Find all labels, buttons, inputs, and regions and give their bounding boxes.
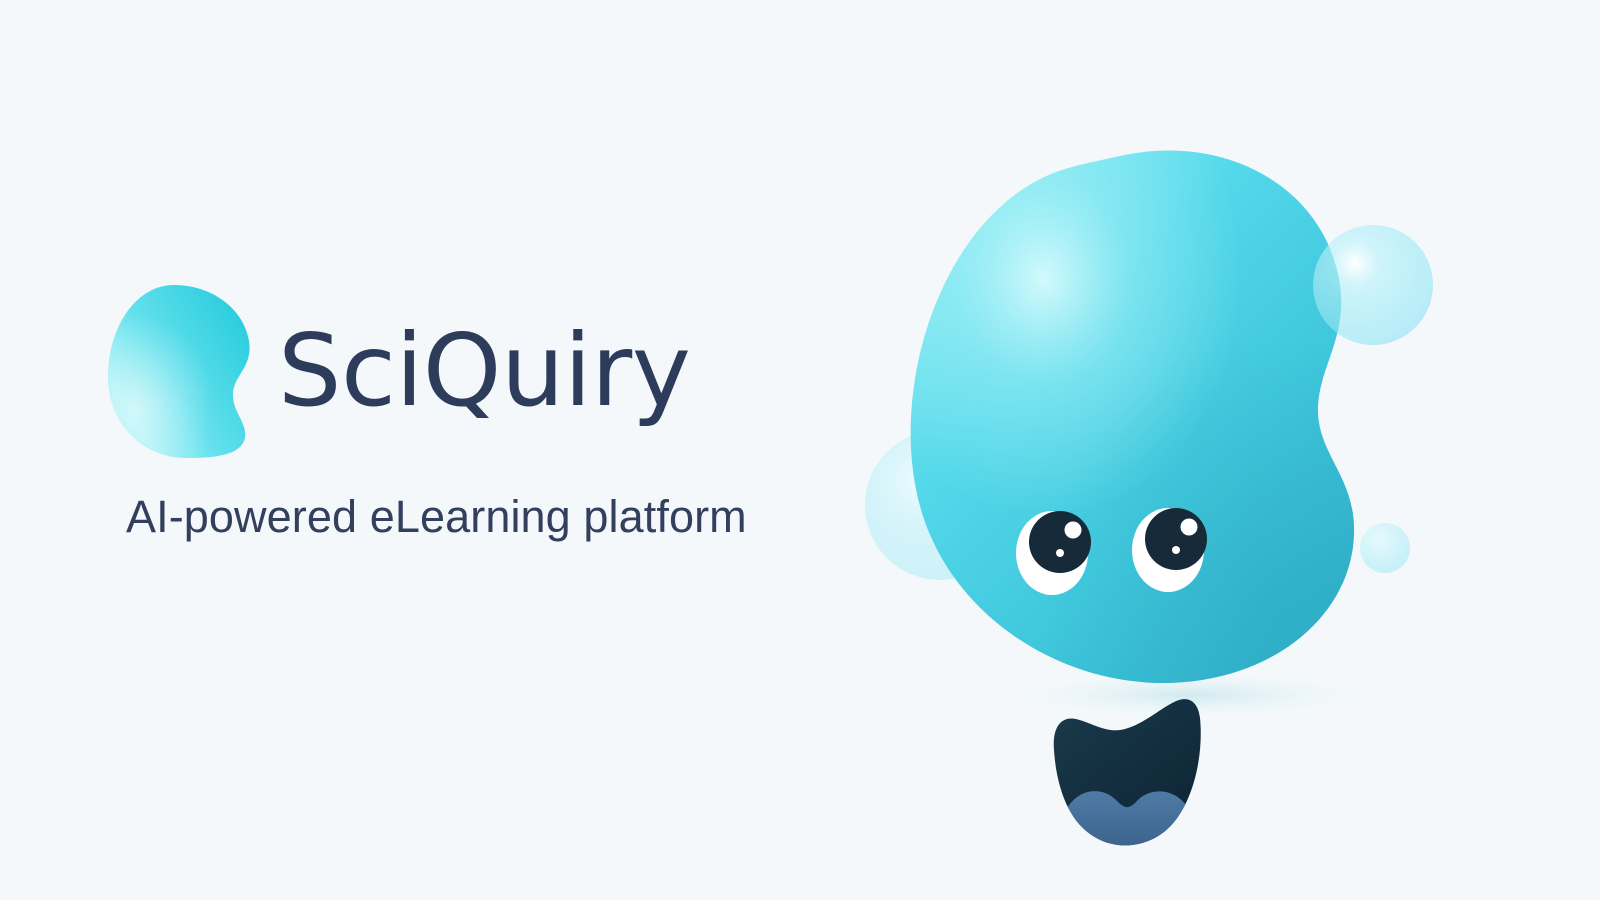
bubble-top-right-overlay-icon — [1313, 225, 1433, 345]
brand-lockup: SciQuiry AI-powered eLearning platform — [104, 276, 824, 566]
mascot-mouth — [1054, 699, 1201, 889]
logo-row: SciQuiry — [104, 276, 690, 466]
splash-screen: SciQuiry AI-powered eLearning platform — [0, 0, 1600, 900]
blob-logo-mark-icon — [104, 283, 256, 459]
bubble-bottom-right-icon — [1360, 523, 1410, 573]
mascot-body — [911, 151, 1354, 683]
mascot-illustration — [820, 110, 1520, 770]
brand-tagline: AI-powered eLearning platform — [126, 494, 747, 539]
brand-wordmark: SciQuiry — [278, 321, 690, 421]
smiling-blob-mascot-icon — [820, 110, 1520, 770]
